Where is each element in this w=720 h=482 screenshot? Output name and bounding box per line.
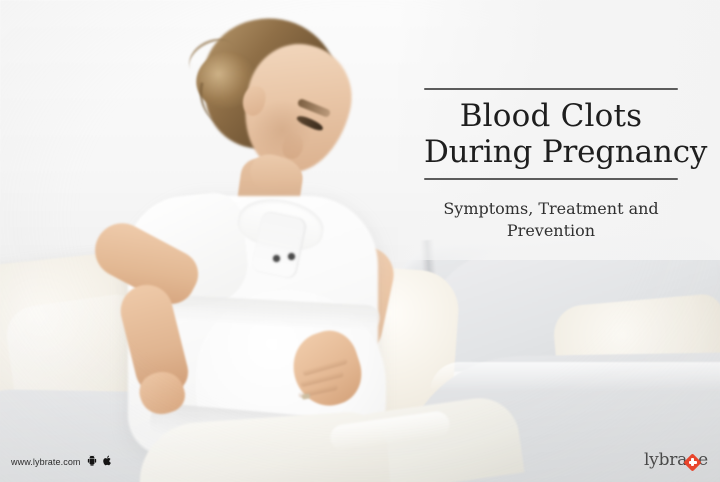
- page-subtitle: Symptoms, Treatment and Prevention: [424, 198, 678, 242]
- title-line-2: During Pregnancy: [424, 134, 678, 170]
- title-rule-bottom: [424, 178, 678, 180]
- article-banner: Blood Clots During Pregnancy Symptoms, T…: [0, 0, 720, 482]
- title-rule-top: [424, 88, 678, 90]
- shirt-button: [273, 255, 280, 262]
- shirt-button: [288, 253, 295, 260]
- android-icon[interactable]: [87, 453, 97, 471]
- medical-cross-diamond-icon: [686, 456, 699, 469]
- title-line-1: Blood Clots: [424, 98, 678, 134]
- title-block: Blood Clots During Pregnancy: [424, 88, 678, 180]
- footer-website-group: www.lybrate.com: [11, 453, 112, 471]
- subtitle-line-2: Prevention: [424, 220, 678, 242]
- subtitle-line-1: Symptoms, Treatment and: [424, 198, 678, 220]
- lybrate-logo[interactable]: lybra e: [644, 450, 708, 470]
- website-url[interactable]: www.lybrate.com: [11, 457, 81, 467]
- apple-icon[interactable]: [103, 453, 112, 471]
- hair-strand: [192, 82, 238, 129]
- page-title: Blood Clots During Pregnancy: [424, 98, 678, 170]
- logo-text-before: lybra: [644, 450, 687, 470]
